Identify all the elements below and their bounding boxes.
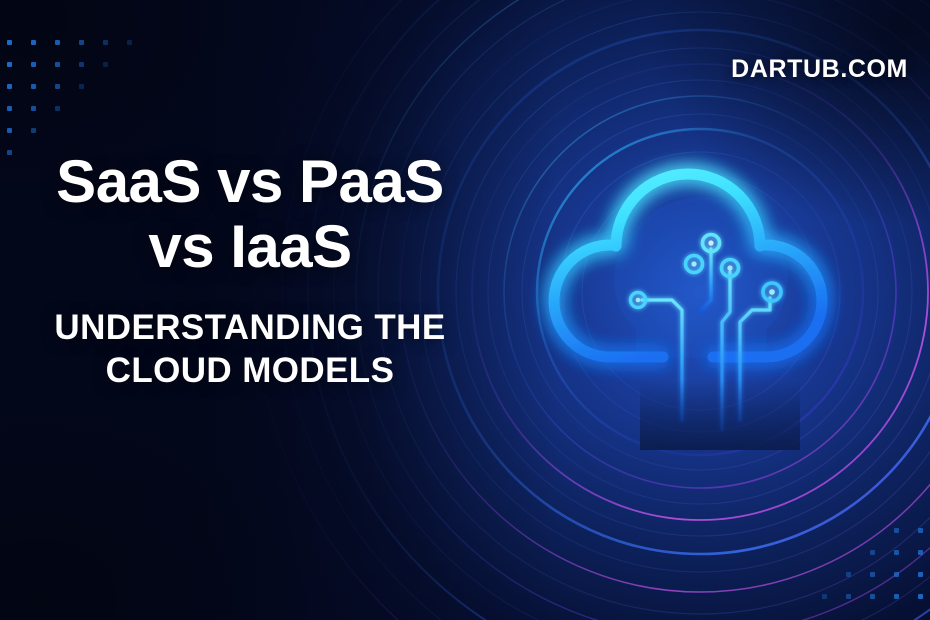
title-line-2: vs IaaS [0,215,500,280]
poster-canvas: DARTUB.COM SaaS vs PaaS vs IaaS UNDERSTA… [0,0,930,620]
subtitle-line-1: UNDERSTANDING THE [0,306,500,350]
page-title: SaaS vs PaaS vs IaaS [0,150,500,280]
subtitle-line-2: CLOUD MODELS [0,349,500,393]
title-line-1: SaaS vs PaaS [0,150,500,215]
site-watermark: DARTUB.COM [731,55,908,84]
page-subtitle: UNDERSTANDING THE CLOUD MODELS [0,306,500,394]
hero-text-block: SaaS vs PaaS vs IaaS UNDERSTANDING THE C… [0,150,500,393]
